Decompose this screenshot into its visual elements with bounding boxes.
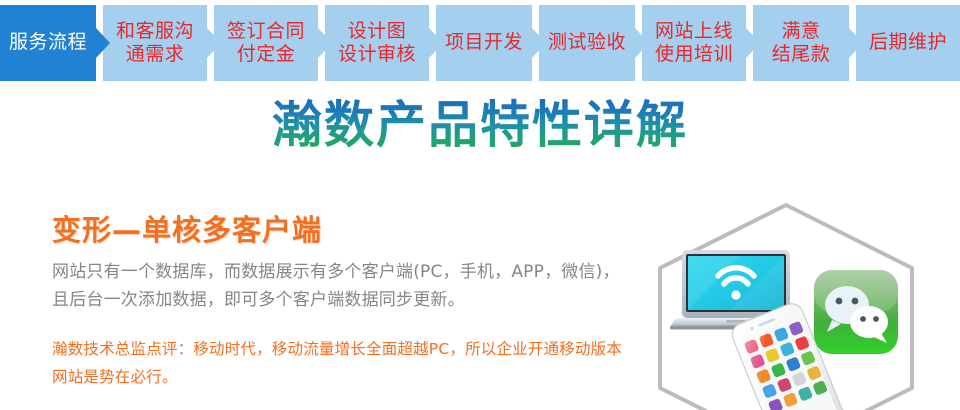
chevron-right-icon: [532, 28, 546, 58]
wechat-icon: [814, 270, 898, 354]
process-step-9[interactable]: 后期维护: [856, 5, 960, 81]
section-title: 瀚数产品特性详解: [0, 98, 960, 153]
multi-client-illustration: [636, 192, 960, 410]
process-step-label: 和客服沟 通需求: [116, 20, 194, 66]
chevron-right-icon: [849, 28, 863, 58]
process-step-1[interactable]: 服务流程: [0, 5, 96, 81]
chevron-right-icon: [635, 28, 649, 58]
process-step-2[interactable]: 和客服沟 通需求: [103, 5, 207, 81]
chevron-right-icon: [318, 28, 332, 58]
process-step-label: 满意 结尾款: [772, 20, 831, 66]
feature-heading: 变形—单核多客户端: [52, 214, 632, 247]
process-step-7[interactable]: 网站上线 使用培训: [642, 5, 746, 81]
process-step-label: 测试验收: [548, 31, 626, 54]
process-step-label: 网站上线 使用培训: [655, 20, 733, 66]
chevron-right-icon: [429, 28, 443, 58]
feature-content: 变形—单核多客户端 网站只有一个数据库，而数据展示有多个客户端(PC，手机，AP…: [52, 214, 632, 391]
process-step-6[interactable]: 测试验收: [539, 5, 635, 81]
chevron-right-icon: [746, 28, 760, 58]
process-step-8[interactable]: 满意 结尾款: [753, 5, 849, 81]
process-step-label: 项目开发: [445, 31, 523, 54]
chevron-right-icon: [96, 28, 110, 58]
process-step-label: 设计图 设计审核: [338, 20, 416, 66]
process-step-label: 服务流程: [9, 31, 87, 54]
process-step-5[interactable]: 项目开发: [436, 5, 532, 81]
feature-description: 网站只有一个数据库，而数据展示有多个客户端(PC，手机，APP，微信)，且后台一…: [52, 259, 632, 314]
process-step-4[interactable]: 设计图 设计审核: [325, 5, 429, 81]
chevron-right-icon: [207, 28, 221, 58]
process-step-label: 签订合同 付定金: [227, 20, 305, 66]
process-flow-bar: 服务流程和客服沟 通需求签订合同 付定金设计图 设计审核项目开发测试验收网站上线…: [0, 0, 960, 85]
process-step-label: 后期维护: [869, 31, 947, 54]
process-step-3[interactable]: 签订合同 付定金: [214, 5, 318, 81]
expert-comment: 瀚数技术总监点评：移动时代，移动流量增长全面超越PC，所以企业开通移动版本网站是…: [52, 336, 632, 390]
